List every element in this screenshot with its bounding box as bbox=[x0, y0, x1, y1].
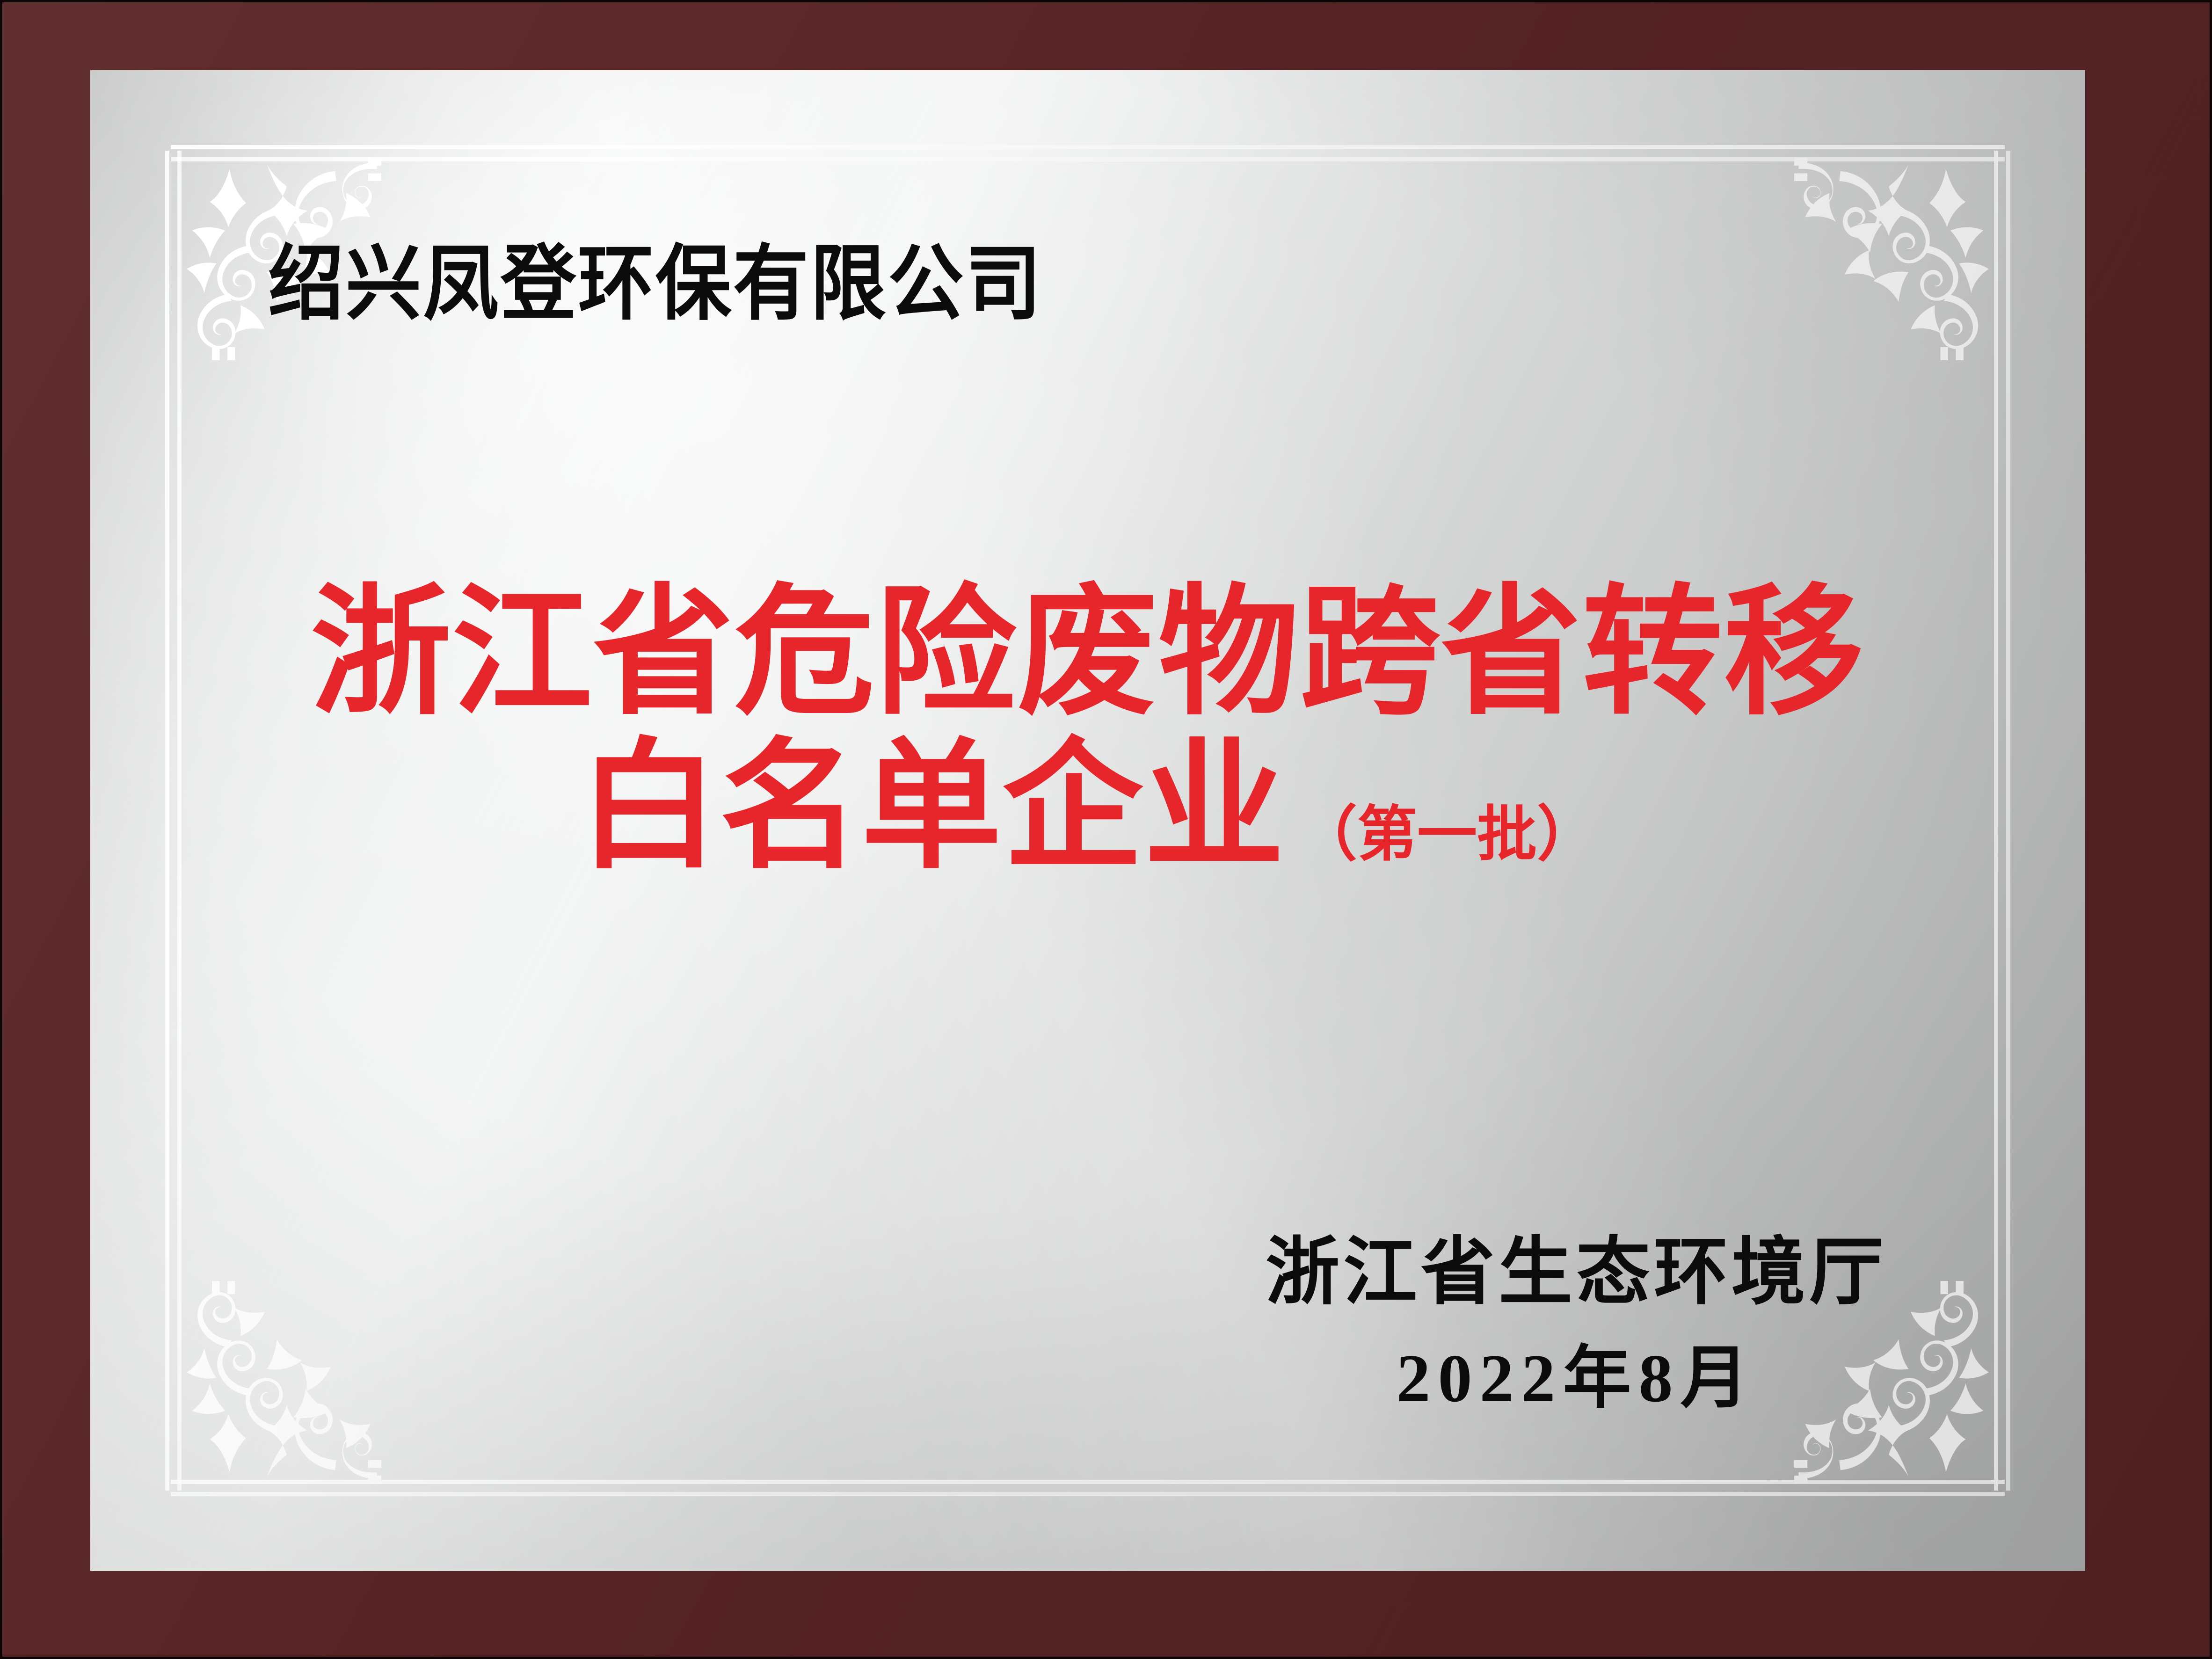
award-title-line-2-row: 白名单企业（第一批） bbox=[90, 735, 2085, 880]
award-batch-note: （第一批） bbox=[1297, 801, 1597, 868]
issuer-organization: 浙江省生态环境厅 bbox=[1266, 1232, 1887, 1315]
award-title-line-1: 浙江省危险废物跨省转移 bbox=[90, 582, 2085, 726]
recipient-company-name: 绍兴凤登环保有限公司 bbox=[268, 244, 1043, 326]
issuer-block: 浙江省生态环境厅 2022年8月 bbox=[1266, 1232, 1887, 1416]
issuer-date: 2022年8月 bbox=[1266, 1341, 1887, 1416]
award-plaque: 绍兴凤登环保有限公司 浙江省危险废物跨省转移 白名单企业（第一批） 浙江省生态环… bbox=[0, 0, 2212, 1659]
award-title-line-2: 白名单企业 bbox=[579, 730, 1285, 885]
plaque-content: 绍兴凤登环保有限公司 浙江省危险废物跨省转移 白名单企业（第一批） 浙江省生态环… bbox=[2, 2, 2210, 1657]
award-title-block: 浙江省危险废物跨省转移 白名单企业（第一批） bbox=[90, 582, 2085, 880]
